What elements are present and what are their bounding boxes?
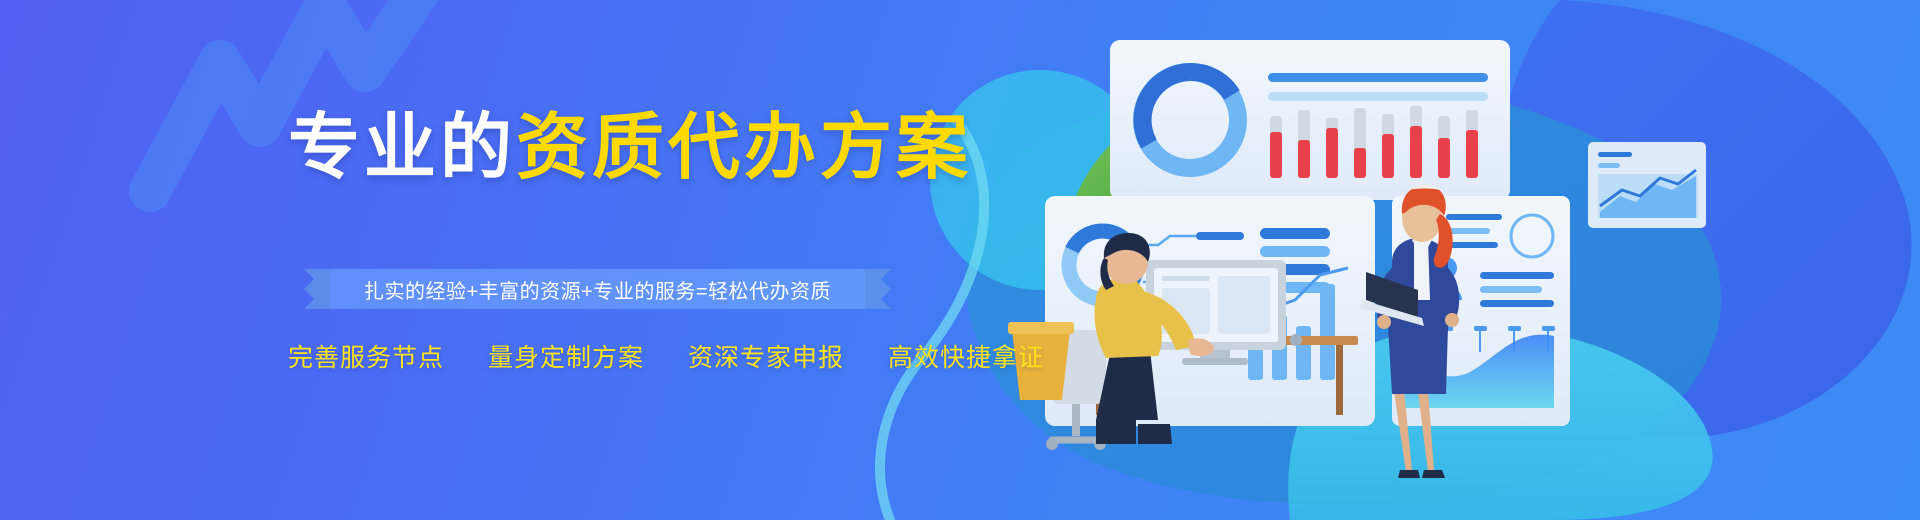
ribbon-tail-left-icon xyxy=(304,269,330,309)
feature-tag-1: 完善服务节点 xyxy=(288,338,444,374)
promo-banner: 专业的资质代办方案 扎实的经验+丰富的资源+专业的服务=轻松代办资质 完善服务节… xyxy=(0,0,1920,520)
business-analytics-illustration xyxy=(900,0,1920,520)
feature-tag-3: 资深专家申报 xyxy=(688,338,844,374)
feature-tag-2: 量身定制方案 xyxy=(488,338,644,374)
ribbon-tail-right-icon xyxy=(865,269,891,309)
page-title: 专业的资质代办方案 xyxy=(288,112,968,184)
headline-block: 专业的资质代办方案 xyxy=(288,112,968,184)
feature-tag-4: 高效快捷拿证 xyxy=(888,338,1044,374)
headline-white-part: 专业的 xyxy=(288,108,516,188)
subtitle-ribbon-body: 扎实的经验+丰富的资源+专业的服务=轻松代办资质 xyxy=(330,269,865,309)
feature-tag-list: 完善服务节点 量身定制方案 资深专家申报 高效快捷拿证 xyxy=(288,338,988,374)
dashboard-card-top xyxy=(1110,40,1510,200)
subtitle-ribbon: 扎实的经验+丰富的资源+专业的服务=轻松代办资质 xyxy=(330,263,865,315)
headline-yellow-part: 资质代办方案 xyxy=(516,108,972,188)
subtitle-text: 扎实的经验+丰富的资源+专业的服务=轻松代办资质 xyxy=(364,275,831,304)
line-chart-card xyxy=(1588,142,1706,228)
